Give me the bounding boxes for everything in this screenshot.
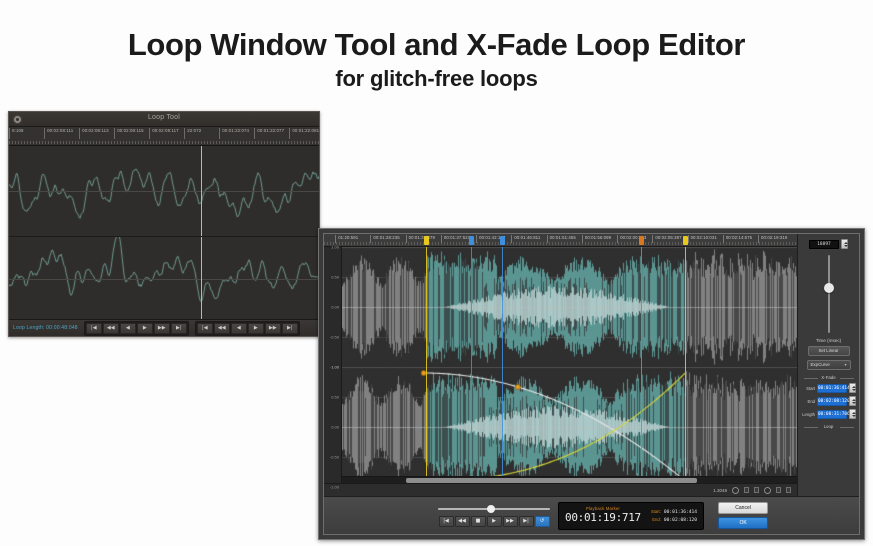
xfade-editor-area[interactable]: 01:20:59100:01:28:23500:01:32:87900:01:3… (324, 234, 797, 496)
ruler-ticks (324, 242, 797, 245)
amplitude-tick-label: 0.00 (331, 425, 339, 430)
ruler-label: 00:02:14:675 (726, 235, 752, 240)
waveform-midline (9, 279, 319, 280)
transport-button-5[interactable]: ▶| (519, 516, 534, 527)
region-marker-a[interactable] (469, 236, 474, 245)
transport-button-2[interactable]: ◀ (120, 323, 136, 334)
loop-tool-title: Loop Tool (9, 114, 319, 121)
loop-start-row[interactable]: Start 00:01:36:414 (801, 383, 856, 393)
amplitude-tick-label: 1.00 (331, 365, 339, 370)
playback-marker-block: Playback Marker 00:01:19:717 (565, 506, 641, 525)
transport-button-3[interactable]: ▶ (487, 516, 502, 527)
loop-length-stepper-icon[interactable] (849, 409, 856, 419)
amplitude-tick-label: 0.50 (331, 275, 339, 280)
ruler-label: 00:01:22:074 (222, 128, 249, 133)
dialog-buttons: Cancel OK (718, 502, 768, 529)
amplitude-tick-label: -1.00 (330, 485, 339, 490)
ruler-label: 00:02:08:113 (82, 128, 109, 133)
amplitude-tick-label: 1.00 (331, 245, 339, 250)
loop-tool-transport-left[interactable]: |◀◀◀◀▶▶▶▶| (84, 321, 189, 336)
xfade-inner-frame: 01:20:59100:01:28:23500:01:32:87900:01:3… (323, 233, 860, 535)
readout-end-row: End: 00:02:08:120 (649, 517, 697, 523)
loop-tool-waveform-top[interactable] (9, 146, 319, 236)
amplitude-scale-column: 1.000.500.00-0.50-1.001.000.500.00-0.50-… (324, 247, 342, 483)
transport-button-1[interactable]: ◀◀ (103, 323, 119, 334)
loop-tool-playhead-bottom[interactable] (201, 237, 202, 320)
transport-button-6[interactable]: ↺ (535, 516, 550, 527)
loop-tool-transport-right[interactable]: |◀◀◀◀▶▶▶▶| (195, 321, 300, 336)
transport-button-4[interactable]: ▶▶ (265, 323, 281, 334)
amplitude-tick-label: -0.50 (330, 455, 339, 460)
zoom-box-icon-d[interactable] (786, 487, 791, 493)
readout-end-label: End: (649, 517, 661, 522)
readout-start-row: Start: 00:01:36:414 (649, 509, 697, 515)
playback-line (641, 247, 642, 476)
ruler-label: 00:01:56:099 (585, 235, 611, 240)
loop-end-label: End (801, 399, 815, 404)
readout-end-value: 00:02:08:120 (664, 518, 697, 523)
headline-line2: for glitch-free loops (0, 65, 873, 93)
ruler-label: 00:01:51:455 (550, 235, 576, 240)
xfade-loop-editor-window: 01:20:59100:01:28:23500:01:32:87900:01:3… (318, 228, 865, 540)
xfade-timeline-ruler[interactable]: 01:20:59100:01:28:23500:01:32:87900:01:3… (324, 234, 797, 247)
transport-button-1[interactable]: ◀◀ (214, 323, 230, 334)
ruler-label: 00:01:28:235 (373, 235, 399, 240)
ruler-label: 00:02:08:117 (152, 128, 179, 133)
chevron-down-icon: ▾ (844, 361, 846, 369)
zoom-box-icon-a[interactable] (744, 487, 749, 493)
loop-tool-timeline-ruler[interactable]: 8:10800:02:08:11100:02:08:11300:02:08:11… (9, 127, 319, 146)
loop-end-stepper-icon[interactable] (849, 396, 856, 406)
ruler-label: 8:108 (12, 128, 24, 133)
ok-button[interactable]: OK (718, 517, 768, 529)
loop-section-label: Loop (804, 424, 854, 429)
ruler-label: 22:072 (187, 128, 201, 133)
slider-knob[interactable] (487, 505, 495, 513)
loop-tool-waveform-bottom[interactable] (9, 236, 319, 320)
set-linear-button[interactable]: Set Linear (808, 346, 850, 356)
playback-marker-time: 00:01:19:717 (565, 511, 641, 525)
transport-button-1[interactable]: ◀◀ (455, 516, 470, 527)
loop-range-readout: Start: 00:01:36:414 End: 00:02:08:120 (649, 509, 697, 523)
transport-button-5[interactable]: ▶| (171, 323, 187, 334)
loop-start-field[interactable]: 00:01:36:414 (817, 384, 847, 393)
transport-button-0[interactable]: |◀ (197, 323, 213, 334)
region-line-b (502, 247, 503, 476)
ruler-label: 00:01:46:811 (514, 235, 540, 240)
transport-button-0[interactable]: |◀ (86, 323, 102, 334)
loop-length-row[interactable]: Length 00:00:31:706 (801, 409, 856, 419)
ruler-label: 00:02:19:319 (761, 235, 787, 240)
transport-button-2[interactable]: ■ (471, 516, 486, 527)
slider-knob[interactable] (824, 283, 834, 293)
curve-type-select[interactable]: ExpCurve ▾ (807, 360, 851, 370)
ruler-label: 00:01:22:077 (257, 128, 284, 133)
waveform-canvas (342, 247, 797, 367)
time-value-field[interactable]: 18897 (809, 240, 839, 249)
playback-readout: Playback Marker 00:01:19:717 Start: 00:0… (558, 502, 704, 530)
transport-button-5[interactable]: ▶| (282, 323, 298, 334)
loop-length-field-label: Length (801, 412, 815, 417)
xfade-waveform-channel-2[interactable] (342, 367, 797, 487)
loop-end-marker[interactable] (683, 236, 688, 245)
time-stepper-icon[interactable] (841, 239, 848, 249)
time-msec-label: Time (msec) (816, 338, 841, 343)
readout-start-label: Start: (649, 509, 661, 514)
zoom-in-icon[interactable] (764, 487, 771, 494)
transport-button-4[interactable]: ▶▶ (154, 323, 170, 334)
xfade-bottom-bar: |◀◀◀■▶▶▶▶|↺ Playback Marker 00:01:19:717… (324, 496, 859, 534)
xfade-waveform-channel-1[interactable] (342, 247, 797, 367)
region-marker-b[interactable] (500, 236, 505, 245)
headline-line1: Loop Window Tool and X-Fade Loop Editor (0, 26, 873, 64)
loop-end-field[interactable]: 00:02:08:120 (817, 397, 847, 406)
loop-end-row[interactable]: End 00:02:08:120 (801, 396, 856, 406)
amplitude-tick-label: 0.00 (331, 305, 339, 310)
slider-track (828, 255, 830, 333)
ruler-label: 00:02:10:031 (691, 235, 717, 240)
zoom-box-icon-b[interactable] (754, 487, 759, 493)
loop-length-field[interactable]: 00:00:31:706 (817, 410, 847, 419)
time-value-stepper[interactable]: 18897 (809, 239, 848, 249)
ruler-label: 00:02:08:111 (47, 128, 73, 133)
ruler-label: 00:02:08:115 (117, 128, 144, 133)
ruler-label: 00:02:05:387 (655, 235, 681, 240)
xfade-side-panel: 18897 Time (msec) Set Linear ExpCurve ▾ … (797, 234, 859, 496)
horizontal-scrollbar[interactable] (342, 476, 797, 483)
ruler-label: 00:01:32:879 (409, 235, 435, 240)
amplitude-tick-label: -0.50 (330, 335, 339, 340)
curve-type-value: ExpCurve (811, 361, 830, 369)
loop-start-label: Start (801, 386, 815, 391)
loop-tool-window: Loop Tool 8:10800:02:08:11100:02:08:1130… (8, 111, 320, 337)
ruler-label: 01:20:591 (338, 235, 358, 240)
loop-start-marker[interactable] (424, 236, 429, 245)
xfade-section-label: X-Fade (804, 375, 854, 380)
amplitude-tick-label: 0.50 (331, 395, 339, 400)
loop-start-line (426, 247, 427, 476)
loop-tool-statusbar: Loop Length: 00:00:48:048 |◀◀◀◀▶▶▶▶| |◀◀… (9, 319, 319, 336)
playback-transport-group: |◀◀◀■▶▶▶▶|↺ (438, 505, 550, 527)
zoom-out-icon[interactable] (732, 487, 739, 494)
transport-button-4[interactable]: ▶▶ (503, 516, 518, 527)
region-line-a (471, 247, 472, 476)
playback-marker[interactable] (639, 236, 644, 245)
loop-length-label: Loop Length: 00:00:48:048 (13, 325, 78, 331)
zoom-box-icon-c[interactable] (776, 487, 781, 493)
playback-transport-buttons[interactable]: |◀◀◀■▶▶▶▶|↺ (439, 516, 550, 527)
loop-end-line (685, 247, 686, 476)
cancel-button[interactable]: Cancel (718, 502, 768, 514)
ruler-label: 00:01:37:523 (444, 235, 470, 240)
loop-start-stepper-icon[interactable] (849, 383, 856, 393)
zoom-level-value: 1.3048 (713, 488, 727, 493)
transport-button-3[interactable]: ▶ (137, 323, 153, 334)
readout-start-value: 00:01:36:414 (664, 510, 697, 515)
xfade-zoom-bar: 1.3048 (324, 483, 797, 496)
waveform-midline (9, 191, 319, 192)
loop-tool-titlebar[interactable]: Loop Tool (9, 112, 319, 127)
waveform-canvas (342, 367, 797, 487)
ruler-ticks (9, 141, 319, 144)
transport-button-3[interactable]: ▶ (248, 323, 264, 334)
page-title: Loop Window Tool and X-Fade Loop Editor … (0, 26, 873, 93)
loop-tool-playhead-top[interactable] (201, 146, 202, 236)
ruler-label: 00:01:22:081 (292, 128, 319, 133)
transport-button-0[interactable]: |◀ (439, 516, 454, 527)
playback-position-slider[interactable] (438, 505, 550, 513)
time-vertical-slider[interactable] (824, 255, 834, 333)
transport-button-2[interactable]: ◀ (231, 323, 247, 334)
